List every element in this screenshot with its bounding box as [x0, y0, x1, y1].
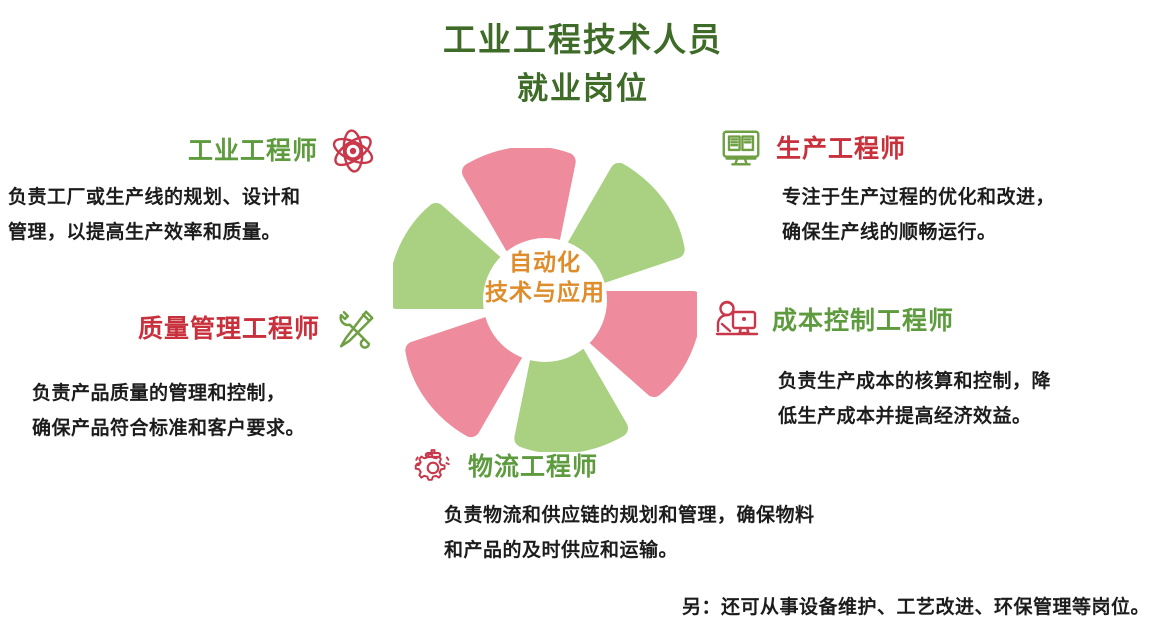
- callout-cost-body-line-1: 负责生产成本的核算和控制，降: [778, 364, 1164, 399]
- atom-icon: [328, 126, 378, 176]
- callout-industrial-body: 负责工厂或生产线的规划、设计和管理，以提高生产效率和质量。: [8, 180, 318, 250]
- callout-logistics-body-line-1: 负责物流和供应链的规划和管理，确保物料: [444, 498, 1128, 533]
- callout-industrial-header: 工业工程师: [8, 126, 380, 176]
- person-computer-icon: [712, 296, 762, 346]
- flower-diagram: [393, 148, 697, 452]
- callout-logistics-heading: 物流工程师: [468, 450, 598, 484]
- callout-quality-body: 负责产品质量的管理和控制， 确保产品符合标准和客户要求。: [8, 376, 392, 446]
- callout-quality-header: 质量管理工程师: [8, 304, 380, 354]
- callout-production-heading: 生产工程师: [776, 132, 906, 166]
- callout-production-body-line-2: 确保生产线的顺畅运行。: [782, 215, 1160, 250]
- callout-quality-body-line-2: 确保产品符合标准和客户要求。: [32, 411, 392, 446]
- callout-cost-body-line-2: 低生产成本并提高经济效益。: [778, 399, 1164, 434]
- infographic-canvas: 工业工程技术人员 就业岗位: [0, 0, 1166, 638]
- callout-quality-heading: 质量管理工程师: [138, 312, 320, 346]
- callout-cost-control-engineer[interactable]: 成本控制工程师 负责生产成本的核算和控制，降 低生产成本并提高经济效益。: [712, 296, 1164, 434]
- footer-note: 另：还可从事设备维护、工艺改进、环保管理等岗位。: [0, 592, 1150, 619]
- callout-cost-heading: 成本控制工程师: [772, 304, 954, 338]
- callout-logistics-body: 负责物流和供应链的规划和管理，确保物料 和产品的及时供应和运输。: [408, 498, 1128, 568]
- callout-quality-body-line-1: 负责产品质量的管理和控制，: [32, 376, 392, 411]
- callout-production-body: 专注于生产过程的优化和改进， 确保生产线的顺畅运行。: [716, 180, 1160, 250]
- callout-logistics-engineer[interactable]: 物流工程师 负责物流和供应链的规划和管理，确保物料 和产品的及时供应和运输。: [408, 442, 1128, 568]
- callout-industrial-heading: 工业工程师: [188, 134, 318, 168]
- callout-cost-header: 成本控制工程师: [712, 296, 1164, 346]
- callout-production-body-line-1: 专注于生产过程的优化和改进，: [782, 180, 1160, 215]
- petal-1: [397, 212, 497, 300]
- callout-production-header: 生产工程师: [716, 124, 1160, 174]
- wrench-pencil-icon: [330, 304, 380, 354]
- page-title: 工业工程技术人员 就业岗位: [0, 18, 1166, 112]
- petal-4: [593, 300, 693, 388]
- callout-quality-engineer[interactable]: 质量管理工程师 负责产品质量的管理和控制， 确保产品符合标准和客户要求。: [8, 304, 380, 446]
- callout-production-engineer[interactable]: 生产工程师 专注于生产过程的优化和改进， 确保生产线的顺畅运行。: [716, 124, 1160, 250]
- flower-hub: [483, 238, 607, 362]
- gear-shipping-icon: [408, 442, 458, 492]
- callout-logistics-body-line-2: 和产品的及时供应和运输。: [444, 533, 1128, 568]
- title-line-2: 就业岗位: [0, 66, 1166, 112]
- monitor-book-icon: [716, 124, 766, 174]
- callout-logistics-header: 物流工程师: [408, 442, 1128, 492]
- callout-cost-body: 负责生产成本的核算和控制，降 低生产成本并提高经济效益。: [712, 364, 1164, 434]
- callout-industrial-engineer[interactable]: 工业工程师 负责工厂或生产线的规划、设计和管理，以提高生产效率和质量。: [8, 126, 380, 250]
- title-line-1: 工业工程技术人员: [0, 18, 1166, 62]
